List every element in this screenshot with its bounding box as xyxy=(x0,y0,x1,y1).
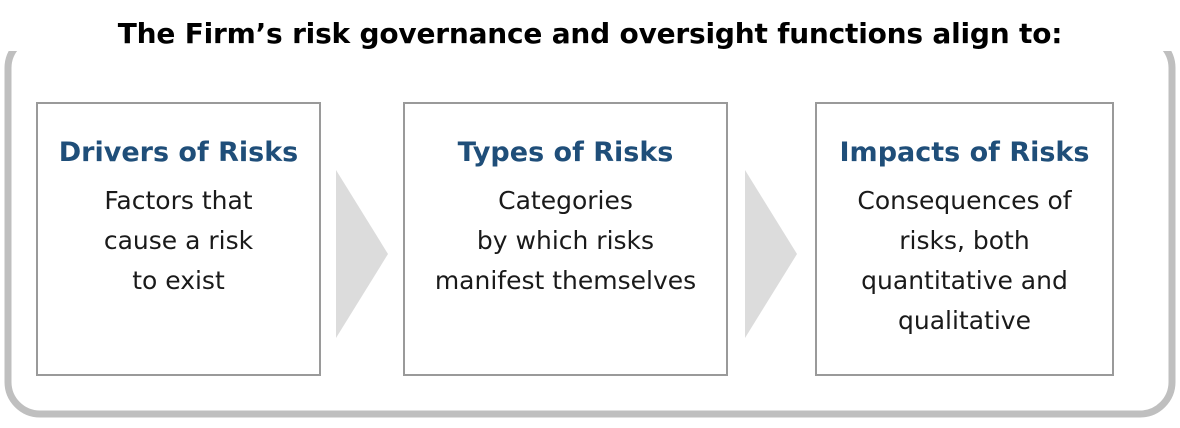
stage-card-impacts-heading: Impacts of Risks xyxy=(840,137,1090,169)
arrow-right-icon xyxy=(745,170,797,338)
stage-card-drivers-heading: Drivers of Risks xyxy=(59,137,299,169)
page-title: The Firm’s risk governance and oversight… xyxy=(0,17,1180,51)
stage-card-drivers-body: Factors that cause a risk to exist xyxy=(104,169,253,301)
stage-card-drivers[interactable]: Drivers of Risks Factors that cause a ri… xyxy=(36,102,321,376)
arrow-right-icon xyxy=(336,170,388,338)
stage-row: Drivers of Risks Factors that cause a ri… xyxy=(0,0,1180,428)
stage-card-types[interactable]: Types of Risks Categories by which risks… xyxy=(403,102,728,376)
stage-card-impacts-body: Consequences of risks, both quantitative… xyxy=(857,169,1071,341)
stage-card-types-body: Categories by which risks manifest thems… xyxy=(435,169,696,301)
risk-framework-diagram: The Firm’s risk governance and oversight… xyxy=(0,0,1180,428)
stage-card-impacts[interactable]: Impacts of Risks Consequences of risks, … xyxy=(815,102,1114,376)
stage-card-types-heading: Types of Risks xyxy=(458,137,674,169)
